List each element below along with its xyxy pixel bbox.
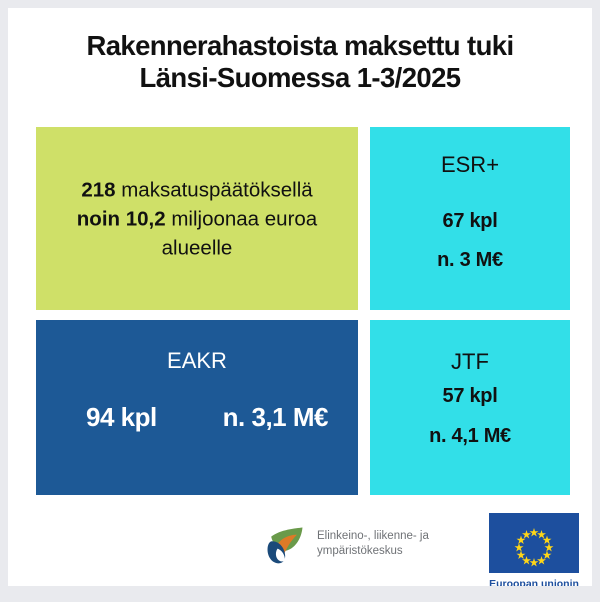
summary-count: 218 bbox=[81, 178, 115, 201]
fund-count-eakr: 94 kpl bbox=[62, 402, 157, 433]
fund-amount-eakr: n. 3,1 M€ bbox=[223, 402, 332, 433]
page-title: Rakennerahastoista maksettu tuki Länsi-S… bbox=[8, 30, 592, 95]
summary-amount-suffix: miljoonaa euroa bbox=[166, 207, 318, 230]
eu-funding-logo: Euroopan unionin osarahoittama bbox=[483, 513, 585, 586]
ely-keskus-logo: Elinkeino-, liikenne- ja ympäristökeskus bbox=[262, 521, 429, 567]
summary-text: 218 maksatuspäätöksellä noin 10,2 miljoo… bbox=[36, 175, 358, 262]
summary-count-suffix: maksatuspäätöksellä bbox=[116, 178, 313, 201]
fund-amount-jtf: n. 4,1 M€ bbox=[370, 425, 570, 448]
infographic-card: Rakennerahastoista maksettu tuki Länsi-S… bbox=[8, 8, 592, 586]
ely-leaf-icon bbox=[262, 521, 308, 567]
fund-label-eakr: EAKR bbox=[36, 348, 358, 374]
footer-logos: Elinkeino-, liikenne- ja ympäristökeskus bbox=[8, 503, 592, 586]
stats-grid: 218 maksatuspäätöksellä noin 10,2 miljoo… bbox=[36, 127, 570, 495]
fund-amount-esr: n. 3 M€ bbox=[370, 249, 570, 272]
fund-count-esr: 67 kpl bbox=[370, 210, 570, 233]
eu-funding-caption: Euroopan unionin osarahoittama bbox=[483, 578, 585, 586]
fund-count-jtf: 57 kpl bbox=[370, 385, 570, 408]
ely-keskus-name: Elinkeino-, liikenne- ja ympäristökeskus bbox=[317, 529, 429, 558]
eu-flag-icon bbox=[489, 513, 579, 573]
fund-stats-eakr: 94 kpl n. 3,1 M€ bbox=[62, 402, 332, 433]
fund-tile-jtf: JTF 57 kpl n. 4,1 M€ bbox=[370, 320, 570, 495]
summary-line3: alueelle bbox=[162, 236, 233, 259]
fund-tile-eakr: EAKR 94 kpl n. 3,1 M€ bbox=[36, 320, 358, 495]
summary-amount: noin 10,2 bbox=[77, 207, 166, 230]
fund-label-esr: ESR+ bbox=[370, 152, 570, 178]
fund-tile-esr: ESR+ 67 kpl n. 3 M€ bbox=[370, 127, 570, 310]
fund-label-jtf: JTF bbox=[370, 349, 570, 375]
summary-tile: 218 maksatuspäätöksellä noin 10,2 miljoo… bbox=[36, 127, 358, 310]
